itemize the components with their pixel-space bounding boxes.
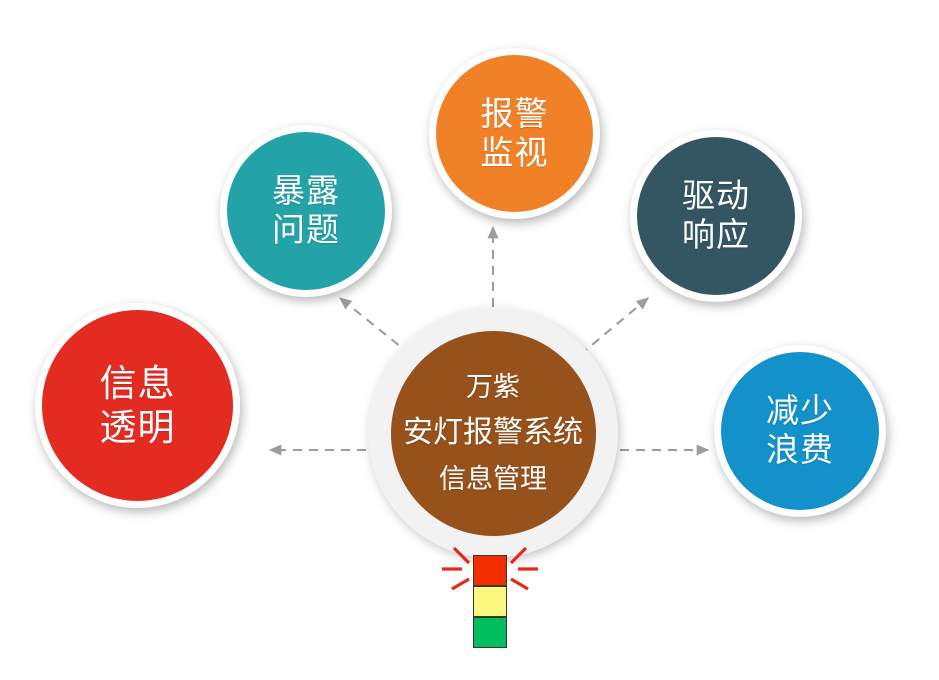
node-slate-disc: 驱动 响应 xyxy=(637,137,795,295)
node-slate[interactable]: 驱动 响应 xyxy=(630,130,802,302)
node-center-label-line1: 万紫 xyxy=(466,373,520,401)
node-teal-disc: 暴露 问题 xyxy=(227,132,385,290)
node-slate-label-line1: 驱动 xyxy=(682,177,750,216)
node-center[interactable]: 万紫 安灯报警系统 信息管理 xyxy=(368,308,618,558)
node-blue-label-line2: 浪费 xyxy=(766,431,834,470)
node-teal-label-line2: 问题 xyxy=(272,211,340,250)
node-blue[interactable]: 减少 浪费 xyxy=(714,345,886,517)
connector-to-teal xyxy=(340,298,411,355)
andon-light-stack xyxy=(473,555,507,648)
node-orange-label-line2: 监视 xyxy=(481,134,549,173)
node-red-label-line2: 透明 xyxy=(100,406,176,450)
node-center-label-line3: 信息管理 xyxy=(439,465,547,493)
node-center-disc: 万紫 安灯报警系统 信息管理 xyxy=(391,331,596,536)
connector-to-slate xyxy=(580,298,648,355)
node-red-disc: 信息 透明 xyxy=(42,310,233,501)
node-red[interactable]: 信息 透明 xyxy=(35,303,240,508)
node-center-label-line2: 安灯报警系统 xyxy=(403,417,583,449)
node-teal-label-line1: 暴露 xyxy=(272,172,340,211)
node-blue-label-line1: 减少 xyxy=(766,392,834,431)
node-slate-label-line2: 响应 xyxy=(682,216,750,255)
andon-light-tower xyxy=(432,541,548,653)
node-teal[interactable]: 暴露 问题 xyxy=(220,125,392,297)
andon-lamp-red xyxy=(473,555,507,586)
node-orange-disc: 报警 监视 xyxy=(436,55,593,212)
node-red-label-line1: 信息 xyxy=(100,362,176,406)
node-blue-disc: 减少 浪费 xyxy=(721,352,879,510)
node-orange-label-line1: 报警 xyxy=(481,95,549,134)
diagram-canvas: 信息 透明 暴露 问题 报警 监视 驱动 响应 减少 浪费 万紫 安 xyxy=(0,0,939,680)
andon-lamp-green xyxy=(473,617,507,648)
node-orange[interactable]: 报警 监视 xyxy=(429,48,600,219)
andon-lamp-yellow xyxy=(473,586,507,617)
